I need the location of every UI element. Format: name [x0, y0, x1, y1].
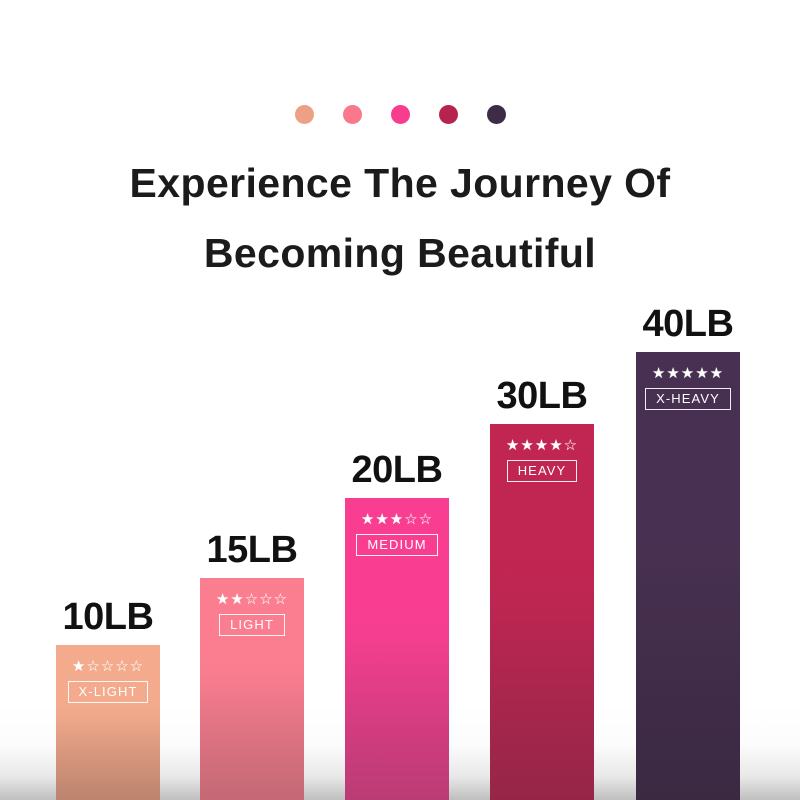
bar-column: ★☆☆☆☆X-LIGHT [56, 645, 160, 800]
star-rating-icon: ★★☆☆☆ [216, 592, 288, 607]
bar-content: ★★★★★X-HEAVY [636, 366, 740, 410]
resistance-band-bar-chart: 10LB★☆☆☆☆X-LIGHT15LB★★☆☆☆LIGHT20LB★★★☆☆M… [0, 0, 800, 800]
bar-weight-label: 20LB [352, 449, 443, 492]
star-rating-icon: ★★★☆☆ [361, 512, 433, 527]
bar-content: ★☆☆☆☆X-LIGHT [56, 659, 160, 703]
bar-gradient-overlay [636, 352, 740, 800]
bar-column: ★★★☆☆MEDIUM [345, 498, 449, 800]
resistance-level-badge: LIGHT [219, 614, 285, 636]
bar-group-20lb: 20LB★★★☆☆MEDIUM [345, 498, 449, 800]
bar-group-40lb: 40LB★★★★★X-HEAVY [636, 352, 740, 800]
bar-weight-label: 30LB [497, 375, 588, 418]
bar-group-30lb: 30LB★★★★☆HEAVY [490, 424, 594, 800]
bar-content: ★★☆☆☆LIGHT [200, 592, 304, 636]
bar-weight-label: 40LB [643, 303, 734, 346]
bar-column: ★★★★☆HEAVY [490, 424, 594, 800]
bar-weight-label: 10LB [63, 596, 154, 639]
bar-column: ★★☆☆☆LIGHT [200, 578, 304, 800]
bar-content: ★★★☆☆MEDIUM [345, 512, 449, 556]
resistance-level-badge: MEDIUM [356, 534, 437, 556]
resistance-level-badge: HEAVY [507, 460, 578, 482]
bar-content: ★★★★☆HEAVY [490, 438, 594, 482]
bar-group-10lb: 10LB★☆☆☆☆X-LIGHT [56, 645, 160, 800]
bar-group-15lb: 15LB★★☆☆☆LIGHT [200, 578, 304, 800]
product-infographic-poster: Experience The Journey Of Becoming Beaut… [0, 0, 800, 800]
star-rating-icon: ★☆☆☆☆ [72, 659, 144, 674]
star-rating-icon: ★★★★★ [652, 366, 724, 381]
bar-column: ★★★★★X-HEAVY [636, 352, 740, 800]
star-rating-icon: ★★★★☆ [506, 438, 578, 453]
resistance-level-badge: X-LIGHT [68, 681, 149, 703]
bar-weight-label: 15LB [207, 529, 298, 572]
resistance-level-badge: X-HEAVY [645, 388, 731, 410]
